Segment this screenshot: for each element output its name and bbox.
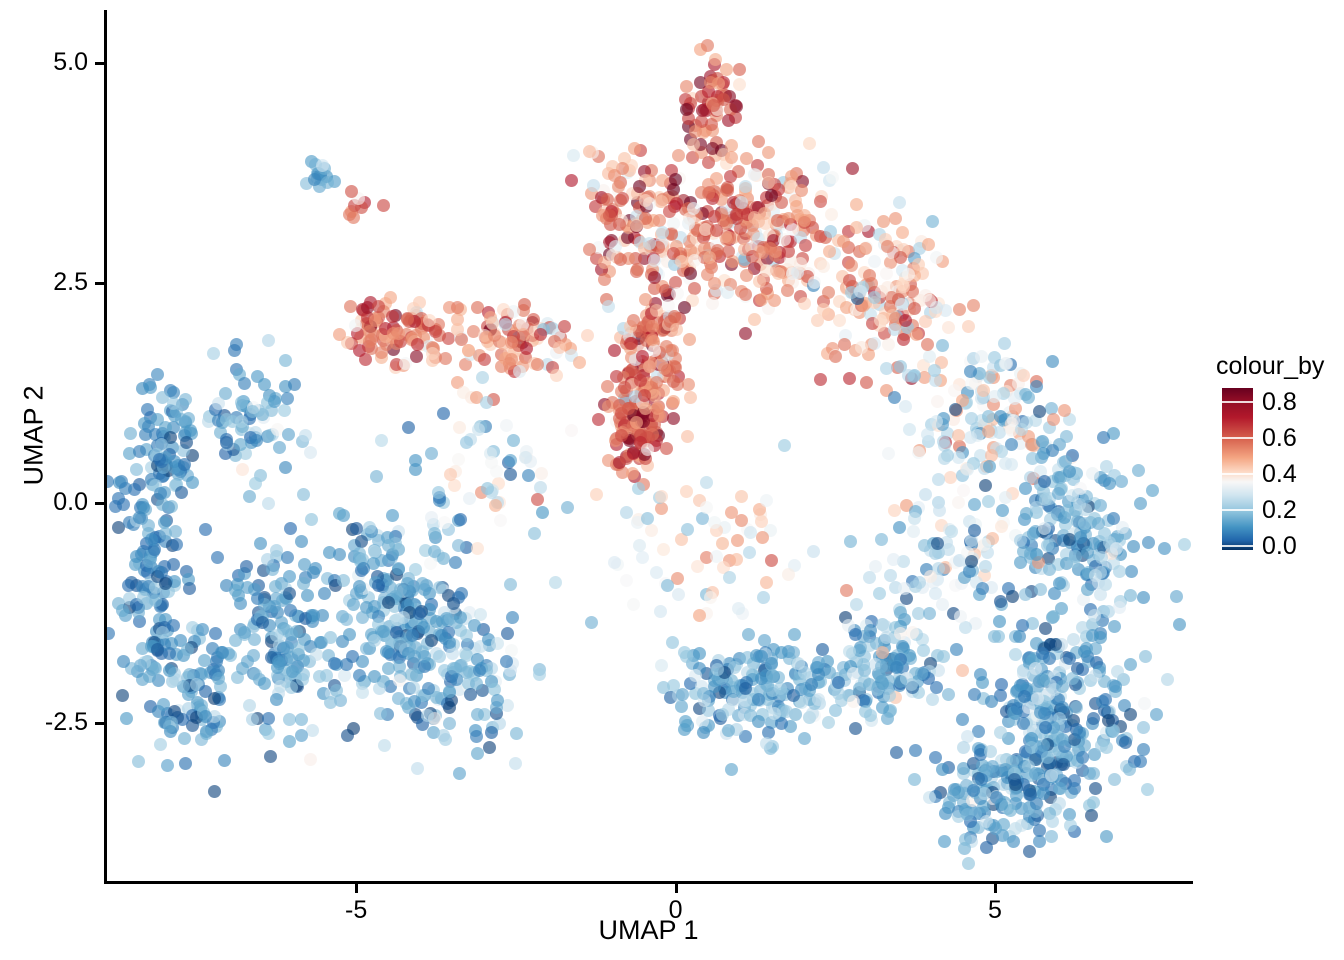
scatter-point (363, 521, 376, 534)
scatter-point (722, 245, 735, 258)
scatter-point (428, 545, 441, 558)
scatter-point (501, 627, 514, 640)
scatter-point (464, 688, 477, 701)
scatter-point (772, 267, 785, 280)
scatter-point (208, 785, 221, 798)
scatter-point (639, 293, 652, 306)
scatter-point (849, 722, 862, 735)
scatter-point (667, 183, 680, 196)
scatter-point (333, 548, 346, 561)
scatter-point (722, 114, 735, 127)
scatter-point (349, 319, 362, 332)
scatter-point (817, 260, 830, 273)
scatter-point (942, 321, 955, 334)
scatter-point (975, 350, 988, 363)
scatter-point (1043, 563, 1056, 576)
scatter-point (742, 628, 755, 641)
scatter-point (500, 419, 513, 432)
scatter-point (956, 664, 969, 677)
scatter-point (333, 507, 346, 520)
scatter-point (262, 712, 275, 725)
scatter-point (760, 494, 773, 507)
scatter-point (136, 382, 149, 395)
scatter-point (814, 195, 827, 208)
scatter-point (179, 393, 192, 406)
scatter-point (826, 171, 839, 184)
scatter-point (811, 314, 824, 327)
scatter-point (979, 560, 992, 573)
scatter-point (1103, 477, 1116, 490)
scatter-point (1134, 755, 1147, 768)
scatter-point (504, 468, 517, 481)
scatter-point (798, 214, 811, 227)
scatter-point (454, 513, 467, 526)
scatter-point (500, 655, 513, 668)
scatter-point (1052, 487, 1065, 500)
scatter-point (983, 460, 996, 473)
scatter-point (730, 553, 743, 566)
scatter-point (598, 273, 611, 286)
scatter-point (850, 598, 863, 611)
scatter-point (443, 701, 456, 714)
colorbar-gradient[interactable] (1222, 388, 1253, 550)
scatter-point (583, 145, 596, 158)
scatter-point (488, 329, 501, 342)
scatter-point (310, 648, 323, 661)
scatter-point (357, 562, 370, 575)
scatter-point (854, 285, 867, 298)
scatter-point (120, 712, 133, 725)
plot-panel[interactable] (107, 10, 1193, 881)
y-tick-mark (95, 62, 104, 65)
scatter-point (284, 522, 297, 535)
scatter-point (1043, 652, 1056, 665)
scatter-point (832, 676, 845, 689)
scatter-point (296, 673, 309, 686)
scatter-point (549, 576, 562, 589)
scatter-point (985, 695, 998, 708)
scatter-point (671, 287, 684, 300)
scatter-point (838, 338, 851, 351)
scatter-point (391, 613, 404, 626)
scatter-point (168, 409, 181, 422)
scatter-point (437, 729, 450, 742)
scatter-point (691, 560, 704, 573)
scatter-point (689, 669, 702, 682)
scatter-point (1100, 830, 1113, 843)
scatter-point (1150, 708, 1163, 721)
scatter-point (740, 269, 753, 282)
scatter-point (207, 347, 220, 360)
scatter-point (894, 627, 907, 640)
scatter-point (565, 424, 578, 437)
scatter-point (687, 202, 700, 215)
scatter-point (735, 490, 748, 503)
colorbar-tick-label: 0.4 (1262, 462, 1297, 487)
scatter-point (460, 629, 473, 642)
scatter-point (373, 682, 386, 695)
scatter-point (849, 628, 862, 641)
scatter-point (976, 582, 989, 595)
scatter-point (893, 196, 906, 209)
scatter-point (899, 314, 912, 327)
scatter-point (199, 710, 212, 723)
scatter-point (926, 215, 939, 228)
scatter-point (107, 627, 115, 640)
scatter-point (337, 574, 350, 587)
scatter-point (760, 737, 773, 750)
scatter-point (1022, 391, 1035, 404)
scatter-point (912, 446, 925, 459)
scatter-point (995, 678, 1008, 691)
scatter-point (133, 511, 146, 524)
scatter-point (536, 506, 549, 519)
scatter-point (509, 757, 522, 770)
scatter-point (1045, 830, 1058, 843)
scatter-point (155, 438, 168, 451)
scatter-point (1127, 540, 1140, 553)
scatter-point (641, 512, 654, 525)
scatter-point (650, 566, 663, 579)
scatter-point (1081, 583, 1094, 596)
scatter-point (199, 685, 212, 698)
y-tick-mark (95, 282, 104, 285)
scatter-point (433, 650, 446, 663)
scatter-point (159, 527, 172, 540)
scatter-point (181, 643, 194, 656)
scatter-point (1094, 631, 1107, 644)
scatter-point (273, 657, 286, 670)
scatter-point (602, 300, 615, 313)
scatter-point (305, 513, 318, 526)
colorbar-tick-mark (1222, 401, 1253, 403)
scatter-point (220, 436, 233, 449)
scatter-point (1141, 783, 1154, 796)
scatter-point (632, 482, 645, 495)
scatter-point (393, 660, 406, 673)
scatter-point (1058, 404, 1071, 417)
scatter-point (452, 539, 465, 552)
scatter-point (907, 370, 920, 383)
scatter-point (297, 577, 310, 590)
scatter-point (648, 271, 661, 284)
scatter-point (894, 606, 907, 619)
scatter-point (504, 454, 517, 467)
scatter-point (402, 701, 415, 714)
scatter-point (418, 650, 431, 663)
scatter-point (1124, 708, 1137, 721)
scatter-point (1064, 819, 1077, 832)
scatter-point (954, 610, 967, 623)
scatter-point (387, 327, 400, 340)
scatter-point (663, 205, 676, 218)
scatter-point (451, 301, 464, 314)
scatter-point (489, 499, 502, 512)
scatter-point (513, 365, 526, 378)
colorbar-tick-mark (1222, 509, 1253, 511)
scatter-point (269, 580, 282, 593)
scatter-point (643, 237, 656, 250)
scatter-point (295, 535, 308, 548)
scatter-point (1049, 638, 1062, 651)
scatter-point (889, 212, 902, 225)
scatter-point (235, 415, 248, 428)
scatter-point (1045, 769, 1058, 782)
scatter-point (278, 404, 291, 417)
scatter-point (798, 732, 811, 745)
scatter-point (295, 713, 308, 726)
scatter-point (167, 397, 180, 410)
scatter-point (161, 759, 174, 772)
scatter-point (297, 488, 310, 501)
scatter-point (918, 539, 931, 552)
scatter-point (964, 431, 977, 444)
scatter-point (743, 546, 756, 559)
scatter-point (755, 515, 768, 528)
scatter-point (236, 463, 249, 476)
scatter-point (378, 739, 391, 752)
scatter-point (603, 209, 616, 222)
scatter-point (717, 93, 730, 106)
scatter-point (590, 488, 603, 501)
scatter-point (654, 605, 667, 618)
scatter-point (956, 713, 969, 726)
scatter-point (868, 337, 881, 350)
scatter-point (499, 318, 512, 331)
scatter-point (565, 174, 578, 187)
scatter-point (915, 667, 928, 680)
scatter-point (145, 533, 158, 546)
scatter-point (133, 445, 146, 458)
colorbar-tick-label: 0.6 (1262, 426, 1297, 451)
scatter-point (670, 323, 683, 336)
scatter-point (1023, 845, 1036, 858)
scatter-point (1078, 517, 1091, 530)
scatter-point (401, 577, 414, 590)
scatter-point (840, 584, 853, 597)
scatter-point (650, 376, 663, 389)
scatter-points-layer (107, 10, 1193, 881)
scatter-point (421, 709, 434, 722)
scatter-point (249, 477, 262, 490)
scatter-point (880, 631, 893, 644)
scatter-point (844, 535, 857, 548)
scatter-point (896, 226, 909, 239)
scatter-point (708, 277, 721, 290)
scatter-point (380, 645, 393, 658)
scatter-point (298, 558, 311, 571)
scatter-point (633, 539, 646, 552)
scatter-point (531, 493, 544, 506)
scatter-point (908, 302, 921, 315)
scatter-point (1089, 782, 1102, 795)
scatter-point (1053, 782, 1066, 795)
scatter-point (903, 423, 916, 436)
scatter-point (471, 542, 484, 555)
scatter-point (167, 619, 180, 632)
scatter-point (755, 293, 768, 306)
scatter-point (1095, 551, 1108, 564)
scatter-point (1137, 591, 1150, 604)
scatter-point (273, 441, 286, 454)
scatter-point (452, 453, 465, 466)
scatter-point (1137, 721, 1150, 734)
scatter-point (768, 707, 781, 720)
scatter-point (672, 149, 685, 162)
scatter-point (655, 502, 668, 515)
scatter-point (907, 525, 920, 538)
scatter-point (894, 675, 907, 688)
scatter-point (179, 757, 192, 770)
scatter-point (438, 516, 451, 529)
x-tick-mark (355, 884, 358, 893)
scatter-point (700, 501, 713, 514)
scatter-point (721, 286, 734, 299)
scatter-point (765, 554, 778, 567)
scatter-point (410, 350, 423, 363)
scatter-point (295, 729, 308, 742)
scatter-point (1137, 743, 1150, 756)
scatter-point (372, 300, 385, 313)
scatter-point (505, 336, 518, 349)
scatter-point (950, 643, 963, 656)
scatter-point (1053, 797, 1066, 810)
scatter-point (988, 390, 1001, 403)
scatter-point (659, 284, 672, 297)
scatter-point (425, 634, 438, 647)
scatter-point (282, 428, 295, 441)
scatter-point (752, 135, 765, 148)
scatter-point (353, 669, 366, 682)
scatter-point (1030, 380, 1043, 393)
scatter-point (1132, 464, 1145, 477)
scatter-point (782, 568, 795, 581)
scatter-point (967, 784, 980, 797)
scatter-point (919, 488, 932, 501)
scatter-point (470, 730, 483, 743)
scatter-point (486, 317, 499, 330)
scatter-point (697, 687, 710, 700)
scatter-point (483, 741, 496, 754)
scatter-point (716, 708, 729, 721)
colorbar-tick-label: 0.2 (1262, 498, 1297, 523)
scatter-point (1053, 577, 1066, 590)
scatter-point (1013, 630, 1026, 643)
scatter-point (1046, 444, 1059, 457)
scatter-point (340, 613, 353, 626)
scatter-point (888, 323, 901, 336)
scatter-point (780, 705, 793, 718)
scatter-point (875, 533, 888, 546)
scatter-point (993, 615, 1006, 628)
scatter-point (567, 149, 580, 162)
scatter-point (460, 436, 473, 449)
scatter-point (864, 709, 877, 722)
scatter-point (270, 544, 283, 557)
scatter-point (519, 451, 532, 464)
scatter-point (1039, 622, 1052, 635)
scatter-point (608, 556, 621, 569)
scatter-point (688, 282, 701, 295)
scatter-point (425, 511, 438, 524)
scatter-point (471, 747, 484, 760)
scatter-point (706, 297, 719, 310)
scatter-point (936, 763, 949, 776)
scatter-point (702, 187, 715, 200)
scatter-point (432, 486, 445, 499)
scatter-point (472, 423, 485, 436)
scatter-point (238, 377, 251, 390)
scatter-point (722, 724, 735, 737)
scatter-point (700, 476, 713, 489)
scatter-point (478, 353, 491, 366)
scatter-point (636, 551, 649, 564)
scatter-point (417, 621, 430, 634)
scatter-point (933, 504, 946, 517)
scatter-point (859, 242, 872, 255)
scatter-point (433, 581, 446, 594)
scatter-point (843, 645, 856, 658)
scatter-point (735, 514, 748, 527)
scatter-point (297, 654, 310, 667)
scatter-point (945, 525, 958, 538)
scatter-point (375, 434, 388, 447)
scatter-point (965, 555, 978, 568)
scatter-point (402, 421, 415, 434)
scatter-point (850, 221, 863, 234)
scatter-point (1067, 633, 1080, 646)
scatter-point (768, 294, 781, 307)
scatter-point (1108, 773, 1121, 786)
scatter-point (522, 469, 535, 482)
scatter-point (156, 498, 169, 511)
scatter-point (868, 255, 881, 268)
scatter-point (1059, 455, 1072, 468)
scatter-point (1019, 588, 1032, 601)
scatter-point (1083, 767, 1096, 780)
scatter-point (1009, 822, 1022, 835)
scatter-point (850, 198, 863, 211)
scatter-point (533, 668, 546, 681)
scatter-point (725, 763, 738, 776)
scatter-point (346, 650, 359, 663)
scatter-point (880, 362, 893, 375)
scatter-point (913, 576, 926, 589)
scatter-point (1134, 497, 1147, 510)
scatter-point (462, 344, 475, 357)
scatter-point (1019, 482, 1032, 495)
scatter-point (154, 487, 167, 500)
scatter-point (703, 251, 716, 264)
scatter-point (344, 300, 357, 313)
scatter-point (722, 231, 735, 244)
scatter-point (116, 689, 129, 702)
scatter-point (630, 416, 643, 429)
scatter-point (447, 597, 460, 610)
scatter-point (143, 670, 156, 683)
scatter-point (1076, 621, 1089, 634)
scatter-point (1142, 536, 1155, 549)
scatter-point (350, 522, 363, 535)
scatter-point (924, 570, 937, 583)
scatter-point (1037, 739, 1050, 752)
scatter-point (355, 535, 368, 548)
scatter-point (124, 427, 137, 440)
scatter-point (491, 637, 504, 650)
scatter-point (463, 492, 476, 505)
scatter-point (535, 467, 548, 480)
scatter-point (938, 452, 951, 465)
